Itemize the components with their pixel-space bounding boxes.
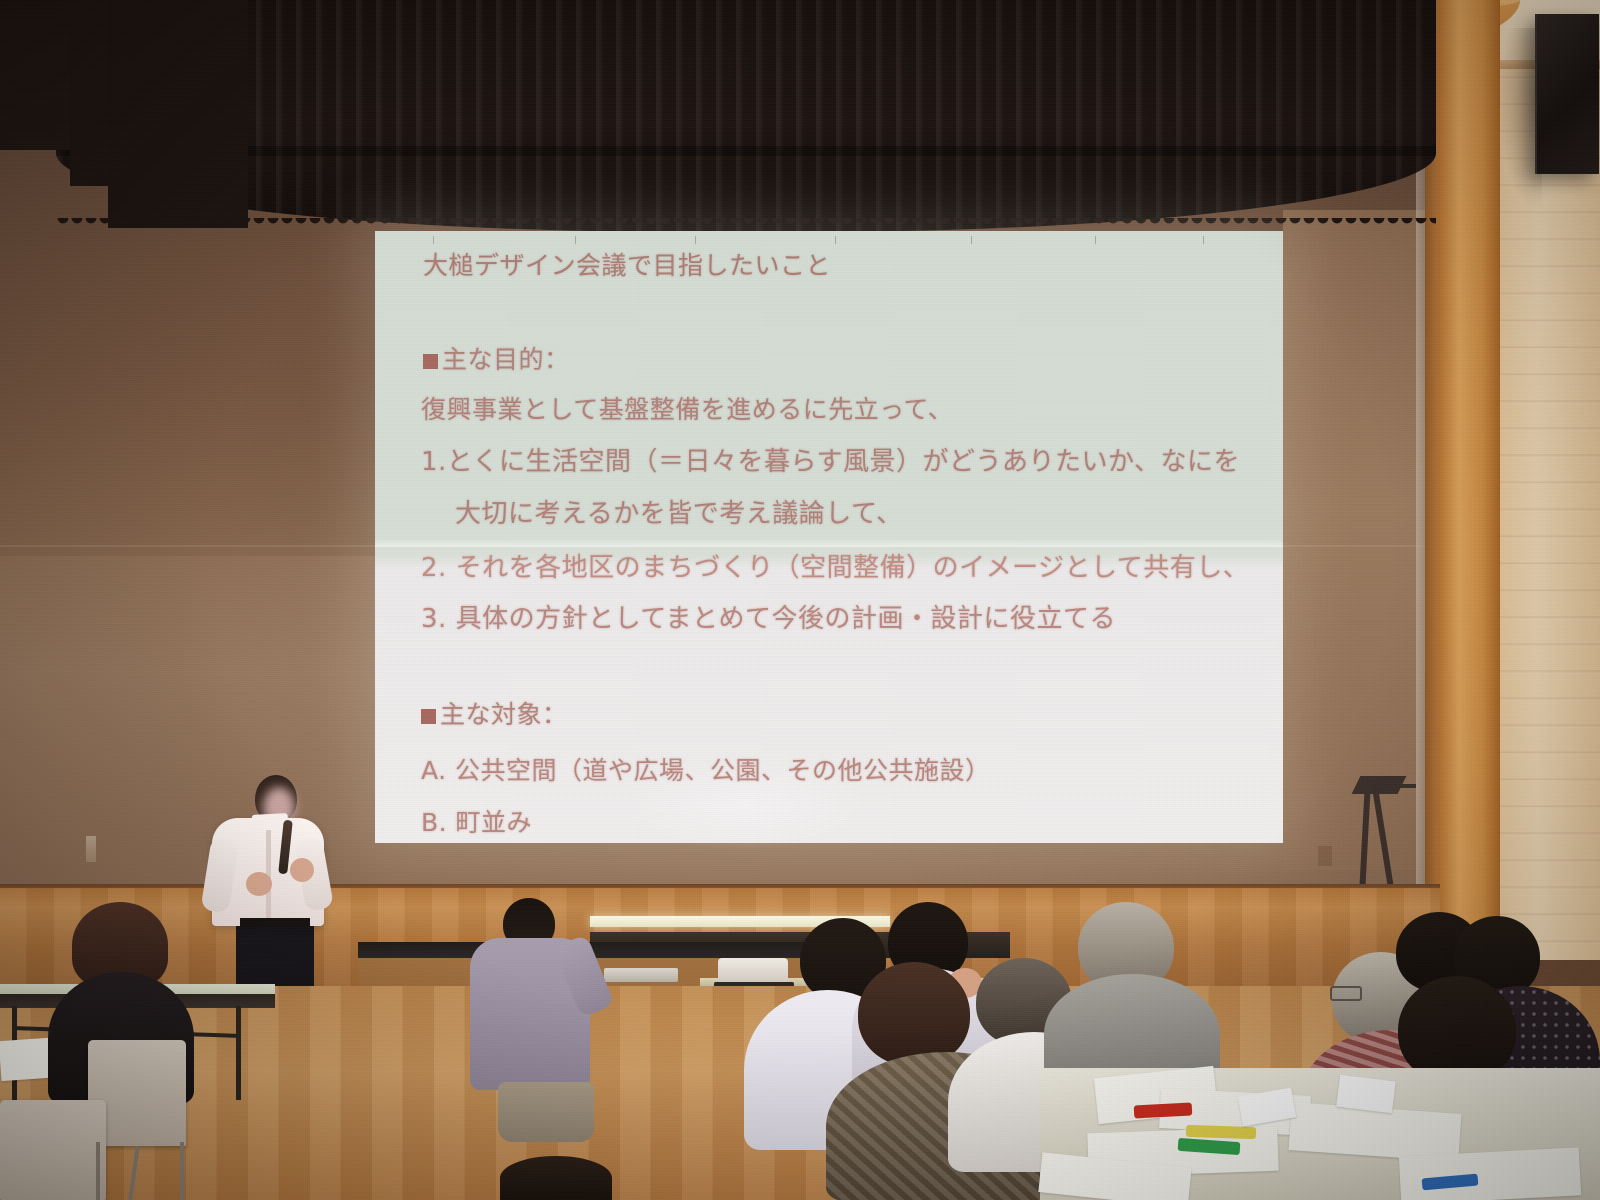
presenter-right-hand xyxy=(290,858,314,882)
slide-purpose-item-1: 1.とくに生活空間（＝日々を暮らす風景）がどうありたいか、なにを xyxy=(421,441,1240,478)
table-leg xyxy=(236,1006,241,1100)
slide-target-item-b: B. 町並み xyxy=(421,803,532,839)
worksheet-paper xyxy=(1399,1147,1581,1200)
presenter-belt xyxy=(240,918,310,927)
presenter-left-hand xyxy=(246,872,272,896)
chair-leg xyxy=(96,1142,100,1200)
technician-legs xyxy=(498,1082,594,1142)
audience-head xyxy=(858,962,970,1066)
slide-purpose-intro: 復興事業として基盤整備を進めるに先立って、 xyxy=(421,390,953,426)
stage-valance-curtain xyxy=(56,0,1436,232)
curtain-seam-band xyxy=(56,146,1436,156)
mic-stand-leg-right xyxy=(1373,790,1394,886)
stage-wall-right-panel xyxy=(1283,210,1426,870)
slide-title: 大槌デザイン会議で目指したいこと xyxy=(423,246,831,282)
square-bullet-icon xyxy=(423,354,438,369)
audience-head xyxy=(500,1156,612,1200)
mic-stand-leg-left xyxy=(1359,790,1370,886)
slide-heading-target-label: 主な対象： xyxy=(440,700,568,729)
slide-purpose-item-3: 3. 具体の方針としてまとめて今後の計画・設計に役立てる xyxy=(421,598,1116,635)
wall-speaker xyxy=(1535,14,1599,174)
eyeglasses-icon xyxy=(1330,986,1362,1001)
slide-heading-target: 主な対象： xyxy=(421,695,568,731)
wall-outlet-plate xyxy=(86,836,96,862)
projector[interactable] xyxy=(718,958,788,984)
curtain-pleats xyxy=(56,0,1436,232)
wall-outlet-plate-right xyxy=(1318,846,1332,866)
square-bullet-icon-2 xyxy=(421,709,436,724)
presenter-shirt-placket xyxy=(266,820,271,924)
laptop[interactable] xyxy=(604,968,678,982)
slide-purpose-item-1-cont: 大切に考えるかを皆で考え議論して、 xyxy=(455,493,903,530)
mic-stand xyxy=(1350,776,1410,886)
mic-stand-arm xyxy=(1394,784,1416,788)
folding-chair[interactable] xyxy=(0,1100,106,1200)
presentation-scene: 大槌デザイン会議で目指したいこと 主な目的： 復興事業として基盤整備を進めるに先… xyxy=(0,0,1600,1200)
proscenium-right-column xyxy=(1438,0,1500,945)
curtain-left-step-3 xyxy=(108,0,248,228)
yellow-marker[interactable] xyxy=(1186,1125,1256,1139)
slide-content: 大槌デザイン会議で目指したいこと 主な目的： 復興事業として基盤整備を進めるに先… xyxy=(375,231,1283,843)
slide-target-item-a: A. 公共空間（道や広場、公園、その他公共施設） xyxy=(421,751,991,787)
slide-heading-purpose-label: 主な目的： xyxy=(442,345,570,374)
name-card xyxy=(1336,1075,1395,1114)
slide-purpose-item-2: 2. それを各地区のまちづくり（空間整備）のイメージとして共有し、 xyxy=(421,547,1249,584)
curtain-scallop-fringe xyxy=(56,218,1436,232)
slide-heading-purpose: 主な目的： xyxy=(423,340,570,376)
chair-leg xyxy=(180,1142,184,1200)
